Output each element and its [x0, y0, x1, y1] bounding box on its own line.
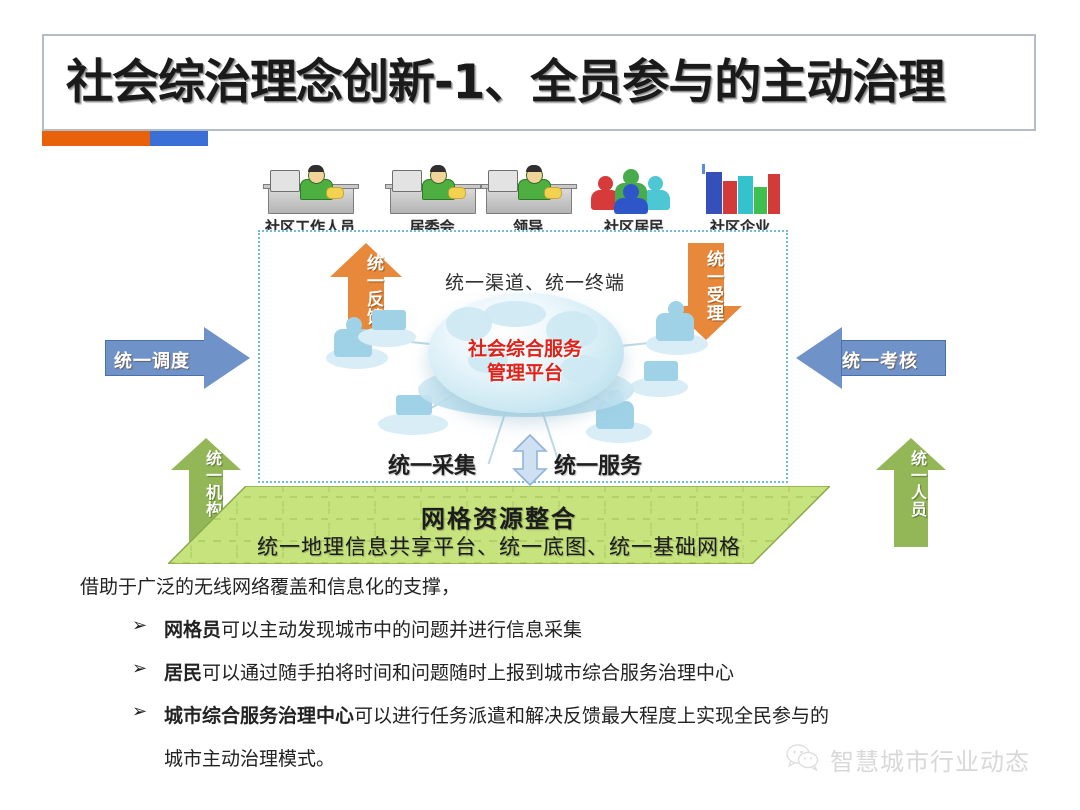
arrow-label: 统一人员 [899, 450, 925, 518]
grid-plane-heading: 网格资源整合 [168, 499, 830, 534]
watermark: 智慧城市行业动态 [786, 742, 1030, 777]
watermark-text: 智慧城市行业动态 [830, 742, 1030, 777]
wechat-icon [786, 743, 820, 776]
desk-worker-icon [480, 168, 576, 214]
bullet-marker-icon: ➢ [132, 701, 147, 722]
unified-collection-label: 统一采集 [388, 448, 476, 480]
bullet-marker-icon: ➢ [132, 658, 147, 679]
bullet-bold: 网格员 [164, 619, 221, 641]
persona-community-staff: 社区工作人员 [262, 168, 358, 237]
desk-worker-icon [262, 168, 358, 214]
unified-service-label: 统一服务 [554, 448, 642, 480]
persona-residents-committee: 居委会 [384, 168, 480, 237]
platform-title: 社会综合服务 管理平台 [300, 337, 750, 386]
list-item-continuation: 城市主动治理模式。 [164, 744, 335, 771]
persona-community-residents: 社区居民 [586, 168, 682, 237]
bidirectional-arrow-icon [512, 434, 548, 486]
bullet-rest: 可以进行任务派遣和解决反馈最大程度上实现全民参与的 [354, 705, 829, 727]
list-item: ➢ 城市综合服务治理中心可以进行任务派遣和解决反馈最大程度上实现全民参与的 [132, 701, 829, 728]
bullet-rest: 可以主动发现城市中的问题并进行信息采集 [221, 619, 582, 641]
page-title: 社会综治理念创新-1、全员参与的主动治理 [66, 44, 1026, 122]
list-item: ➢ 网格员可以主动发现城市中的问题并进行信息采集 [132, 615, 582, 642]
bullet-bold: 城市综合服务治理中心 [164, 705, 354, 727]
desk-worker-icon [384, 168, 480, 214]
people-group-icon [586, 168, 682, 214]
bullet-rest: 可以通过随手拍将时间和问题随时上报到城市综合服务治理中心 [202, 662, 734, 684]
accent-bar-blue [150, 131, 208, 146]
bullet-marker-icon: ➢ [132, 615, 147, 636]
slide-canvas: 社会综治理念创新-1、全员参与的主动治理 社区工作人员 居委会 领导 [0, 0, 1080, 810]
accent-bar-orange [42, 131, 150, 146]
persona-leader: 领导 [480, 168, 576, 237]
grid-resource-plane: 网格资源整合 统一地理信息共享平台、统一底图、统一基础网格 [168, 486, 830, 564]
bullet-bold: 居民 [164, 662, 202, 684]
persona-community-enterprise: 社区企业 [692, 168, 788, 237]
arrow-label: 统一考核 [842, 347, 918, 373]
buildings-icon [692, 168, 788, 214]
grid-plane-subtext: 统一地理信息共享平台、统一底图、统一基础网格 [168, 531, 830, 561]
lead-paragraph: 借助于广泛的无线网络覆盖和信息化的支撑， [80, 572, 460, 599]
arrow-label: 统一调度 [114, 347, 190, 373]
list-item: ➢ 居民可以通过随手拍将时间和问题随时上报到城市综合服务治理中心 [132, 658, 734, 685]
